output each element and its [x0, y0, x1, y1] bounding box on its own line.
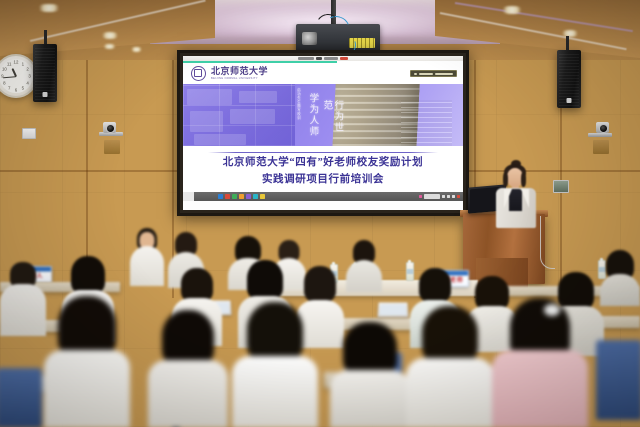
- ceiling-downlight: [36, 4, 62, 12]
- hair: [181, 268, 213, 302]
- torso: [600, 274, 640, 306]
- collage-tile: [239, 91, 277, 102]
- hair-tie: [544, 304, 560, 316]
- university-name-cn: 北京师范大学: [211, 67, 268, 76]
- slide-title-line-1: 北京师范大学“四有”好老师校友奖励计划: [183, 156, 463, 170]
- slide-divider-top: [208, 152, 438, 153]
- ceiling-downlight: [500, 6, 524, 14]
- clock-number: 8: [3, 80, 5, 85]
- slide-header: 北京师范大学 BEIJING NORMAL UNIVERSITY: [183, 63, 463, 84]
- clock-number: 12: [14, 60, 19, 65]
- hair: [71, 256, 105, 294]
- tray-icon[interactable]: [452, 195, 455, 198]
- bnu-seal-logo: [191, 66, 206, 81]
- clock-number: 11: [7, 62, 12, 67]
- presentation-slide: 北京师范大学 BEIJING NORMAL UNIVERSITY: [183, 61, 463, 201]
- audience-member: [130, 228, 164, 286]
- collage-tile: [194, 134, 246, 145]
- torso: [232, 356, 318, 427]
- windows-taskbar[interactable]: [183, 192, 463, 201]
- camera-bracket-left: [104, 140, 120, 154]
- camera-lens-right: [599, 124, 608, 133]
- presenter-hair-side: [503, 172, 508, 187]
- torso: [44, 350, 130, 427]
- presenter-hair-side: [521, 172, 526, 187]
- torso: [148, 360, 228, 427]
- clock-number: 7: [8, 85, 10, 90]
- speaker-grille: [35, 46, 55, 100]
- motto-line-2: 行为世范: [320, 100, 342, 143]
- tray-icon[interactable]: [457, 195, 460, 198]
- hair: [304, 266, 336, 302]
- calligraphy-motto: 启功先生题写校训 学为人师 行为世范: [284, 88, 351, 143]
- wall-control-panel[interactable]: [553, 180, 569, 193]
- taskbar-icon[interactable]: [232, 194, 237, 199]
- collage-tile: [230, 109, 275, 124]
- audience-member-pink: [492, 298, 588, 427]
- clock-number: 2: [26, 67, 28, 72]
- toolbar-chip: [298, 57, 314, 60]
- slide-title-block: 北京师范大学“四有”好老师校友奖励计划 实践调研项目行前培训会: [183, 156, 463, 187]
- audience-member: [600, 250, 640, 306]
- ceiling-downlight: [560, 30, 580, 37]
- audience-member: [330, 322, 410, 427]
- collage-tile: [187, 89, 232, 105]
- hair: [422, 306, 478, 364]
- audience-member: [346, 240, 382, 292]
- ceiling-downlight: [100, 32, 120, 39]
- torso-pink-top: [492, 350, 588, 427]
- toolbar-chip: [324, 57, 338, 60]
- clock-numerals: 12 1 2 3 4 5 6 7 8 9 10 11: [0, 56, 36, 96]
- motto-line-1: 学为人师: [306, 93, 317, 137]
- building-photo: [401, 100, 451, 146]
- audience-member: [406, 306, 494, 427]
- clock-number: 5: [22, 85, 24, 90]
- campus-photo-collage: [183, 84, 295, 146]
- audience-member: [0, 262, 46, 336]
- taskbar-icon[interactable]: [253, 194, 258, 199]
- university-name-en: BEIJING NORMAL UNIVERSITY: [211, 77, 268, 80]
- presenter-lapel-left: [504, 189, 512, 208]
- toolbar-chip: [340, 57, 348, 60]
- clock-number: 10: [2, 67, 7, 72]
- tray-icon[interactable]: [442, 195, 445, 198]
- microphone-cable: [540, 216, 555, 269]
- university-wordmark: 北京师范大学 BEIJING NORMAL UNIVERSITY: [211, 67, 268, 80]
- torso: [406, 358, 494, 427]
- camera-arm-right: [588, 133, 612, 137]
- taskbar-icon[interactable]: [239, 194, 244, 199]
- slide-banner-image: 启功先生题写校训 学为人师 行为世范: [183, 84, 463, 146]
- wall-speaker-right: [557, 50, 581, 108]
- projector-lens: [302, 32, 317, 45]
- clock-number: 4: [26, 80, 28, 85]
- taskbar-icon[interactable]: [260, 194, 265, 199]
- torso: [346, 260, 382, 292]
- camera-lens-left: [106, 124, 115, 133]
- torso: [330, 370, 410, 427]
- clock-number: 1: [22, 62, 24, 67]
- wall-light-switch[interactable]: [22, 128, 36, 139]
- hair: [247, 260, 283, 300]
- chair: [596, 340, 640, 420]
- projection-screen: 北京师范大学 BEIJING NORMAL UNIVERSITY: [177, 50, 469, 216]
- motto-attribution: 启功先生题写校训: [292, 88, 303, 120]
- hair: [343, 322, 397, 376]
- audience-member: [44, 296, 130, 427]
- presenter-lapel-right: [521, 189, 529, 208]
- tray-icon[interactable]: [419, 195, 422, 198]
- chair: [0, 368, 42, 427]
- presenter-at-podium: [492, 168, 540, 226]
- wall-seam-horizontal: [0, 170, 180, 172]
- taskbar-icon[interactable]: [225, 194, 230, 199]
- collage-tile: [190, 111, 224, 132]
- toolbar-chip: [316, 57, 322, 60]
- audience-member: [232, 302, 318, 427]
- tray-icon[interactable]: [447, 195, 450, 198]
- start-button[interactable]: [183, 192, 194, 201]
- clock-number: 6: [15, 87, 17, 92]
- taskbar-icon[interactable]: [246, 194, 251, 199]
- audience-member: [148, 310, 228, 427]
- ceiling-downlight: [130, 47, 143, 52]
- torso: [130, 246, 164, 286]
- ceiling-downlight: [102, 44, 117, 49]
- laptop[interactable]: [377, 302, 408, 317]
- lecture-hall-screenshot: 北京师范大学 BEIJING NORMAL UNIVERSITY: [0, 0, 640, 427]
- taskbar-tray[interactable]: [419, 194, 460, 199]
- wall-speaker-left: [33, 44, 57, 102]
- torso: [0, 284, 46, 336]
- taskbar-clock[interactable]: [424, 194, 440, 199]
- slide-title-line-2: 实践调研项目行前培训会: [183, 173, 463, 187]
- clock-number: 3: [28, 74, 30, 79]
- taskbar-icon[interactable]: [218, 194, 223, 199]
- taskbar-icons[interactable]: [218, 194, 265, 199]
- hair: [419, 268, 451, 302]
- hair: [247, 302, 303, 362]
- screen-surface: 北京师范大学 BEIJING NORMAL UNIVERSITY: [183, 56, 463, 210]
- camera-bracket-right: [593, 140, 609, 154]
- speaker-grille: [559, 52, 579, 106]
- slide-presenter-badge[interactable]: [410, 70, 457, 77]
